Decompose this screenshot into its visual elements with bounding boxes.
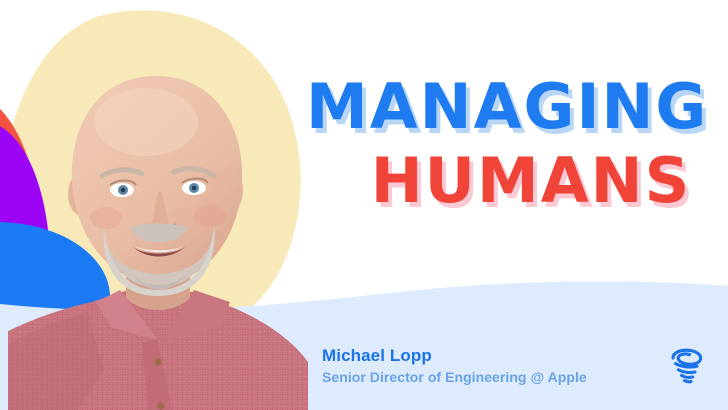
title-line-managing: MANAGING <box>306 78 700 136</box>
speaker-name: Michael Lopp <box>322 345 587 366</box>
slide-canvas: MANAGING HUMANS Michael Lopp Senior Dire… <box>0 0 728 410</box>
title-line-humans: HUMANS <box>362 152 700 210</box>
tornado-logo-icon <box>664 345 708 389</box>
speaker-role: Senior Director of Engineering @ Apple <box>322 368 587 386</box>
speaker-info: Michael Lopp Senior Director of Engineer… <box>322 345 587 386</box>
slide-title: MANAGING HUMANS <box>300 78 700 211</box>
speaker-portrait-michael-lopp <box>8 40 308 410</box>
